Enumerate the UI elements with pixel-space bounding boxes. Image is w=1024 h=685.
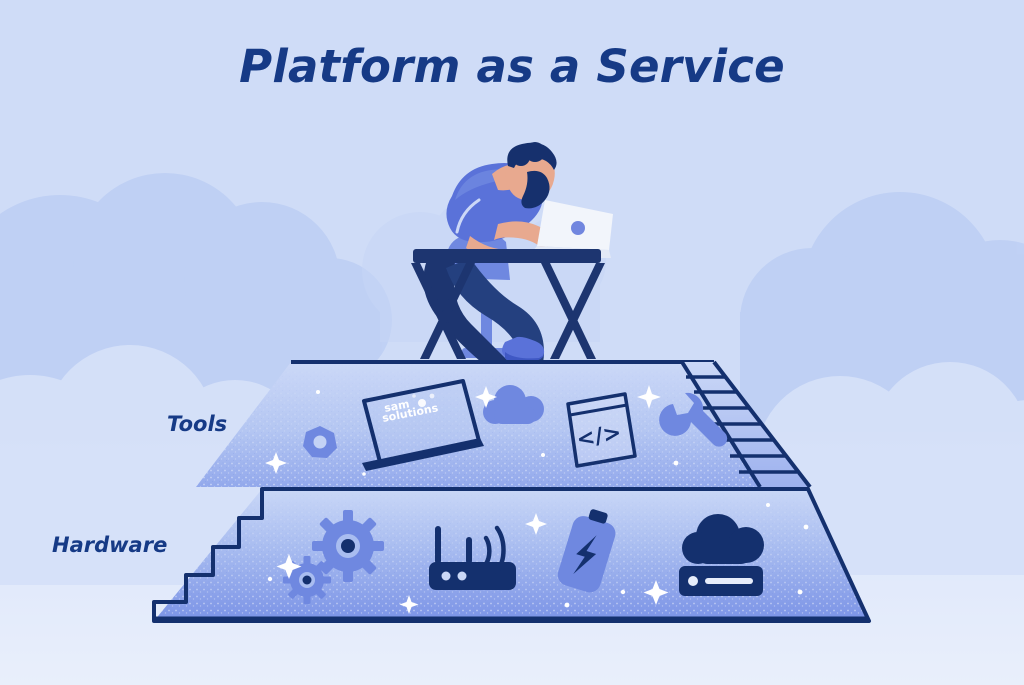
page-title: Platform as a Service (0, 40, 1024, 93)
gear-large-icon (312, 510, 384, 582)
tier-tools (150, 355, 870, 495)
code-window-icon: </> (568, 394, 635, 466)
pyramid-diagram: sam solutions </> (0, 0, 1024, 685)
server-icon (679, 566, 763, 596)
tier-label-hardware: Hardware (52, 533, 167, 557)
illustration-canvas: sam solutions </> (0, 0, 1024, 685)
tier-label-tools: Tools (167, 412, 227, 436)
